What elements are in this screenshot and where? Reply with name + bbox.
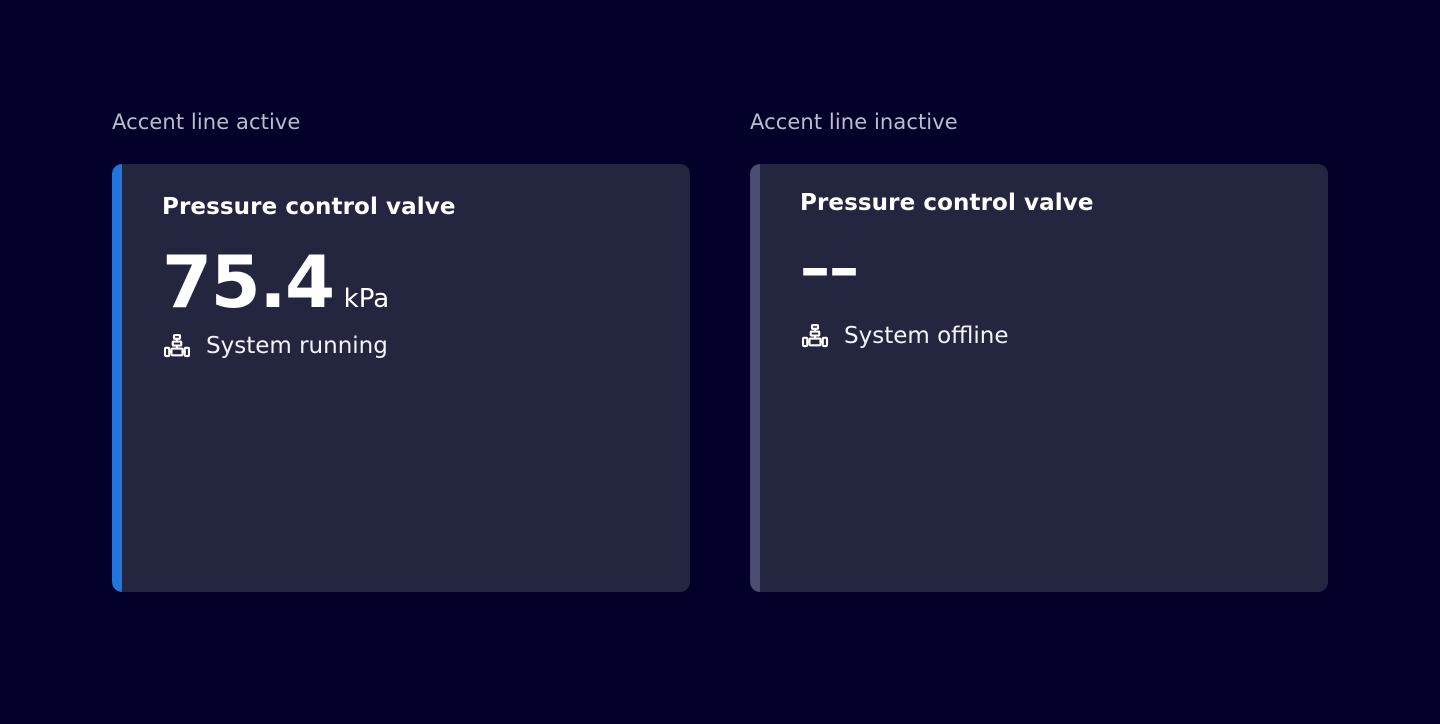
reading-unit-active: kPa [344, 286, 390, 312]
metric-card-inactive[interactable]: Pressure control valve –– [750, 164, 1328, 592]
card-body-inactive: Pressure control valve –– [750, 164, 1328, 592]
section-accent-line-active: Accent line active Pressure control valv… [112, 112, 690, 592]
valve-icon [800, 322, 830, 352]
metric-card-active[interactable]: Pressure control valve 75.4 kPa [112, 164, 690, 592]
reading-value-inactive: –– [800, 238, 858, 298]
page-root: Accent line active Pressure control valv… [0, 0, 1440, 724]
status-row-inactive: System offline [800, 322, 1300, 352]
reading-inactive: –– [800, 238, 1300, 304]
reading-active: 75.4 kPa [162, 246, 662, 318]
section-accent-line-inactive: Accent line inactive Pressure control va… [750, 112, 1328, 592]
status-text-active: System running [206, 335, 388, 358]
section-label-inactive: Accent line inactive [750, 112, 1328, 133]
status-row-active: System running [162, 332, 662, 362]
card-title-active: Pressure control valve [162, 194, 662, 222]
card-title-inactive: Pressure control valve [800, 190, 1300, 218]
card-body-active: Pressure control valve 75.4 kPa [112, 164, 690, 592]
valve-icon [162, 332, 192, 362]
section-label-active: Accent line active [112, 112, 690, 133]
status-text-inactive: System offline [844, 325, 1009, 348]
reading-value-active: 75.4 [162, 246, 334, 318]
